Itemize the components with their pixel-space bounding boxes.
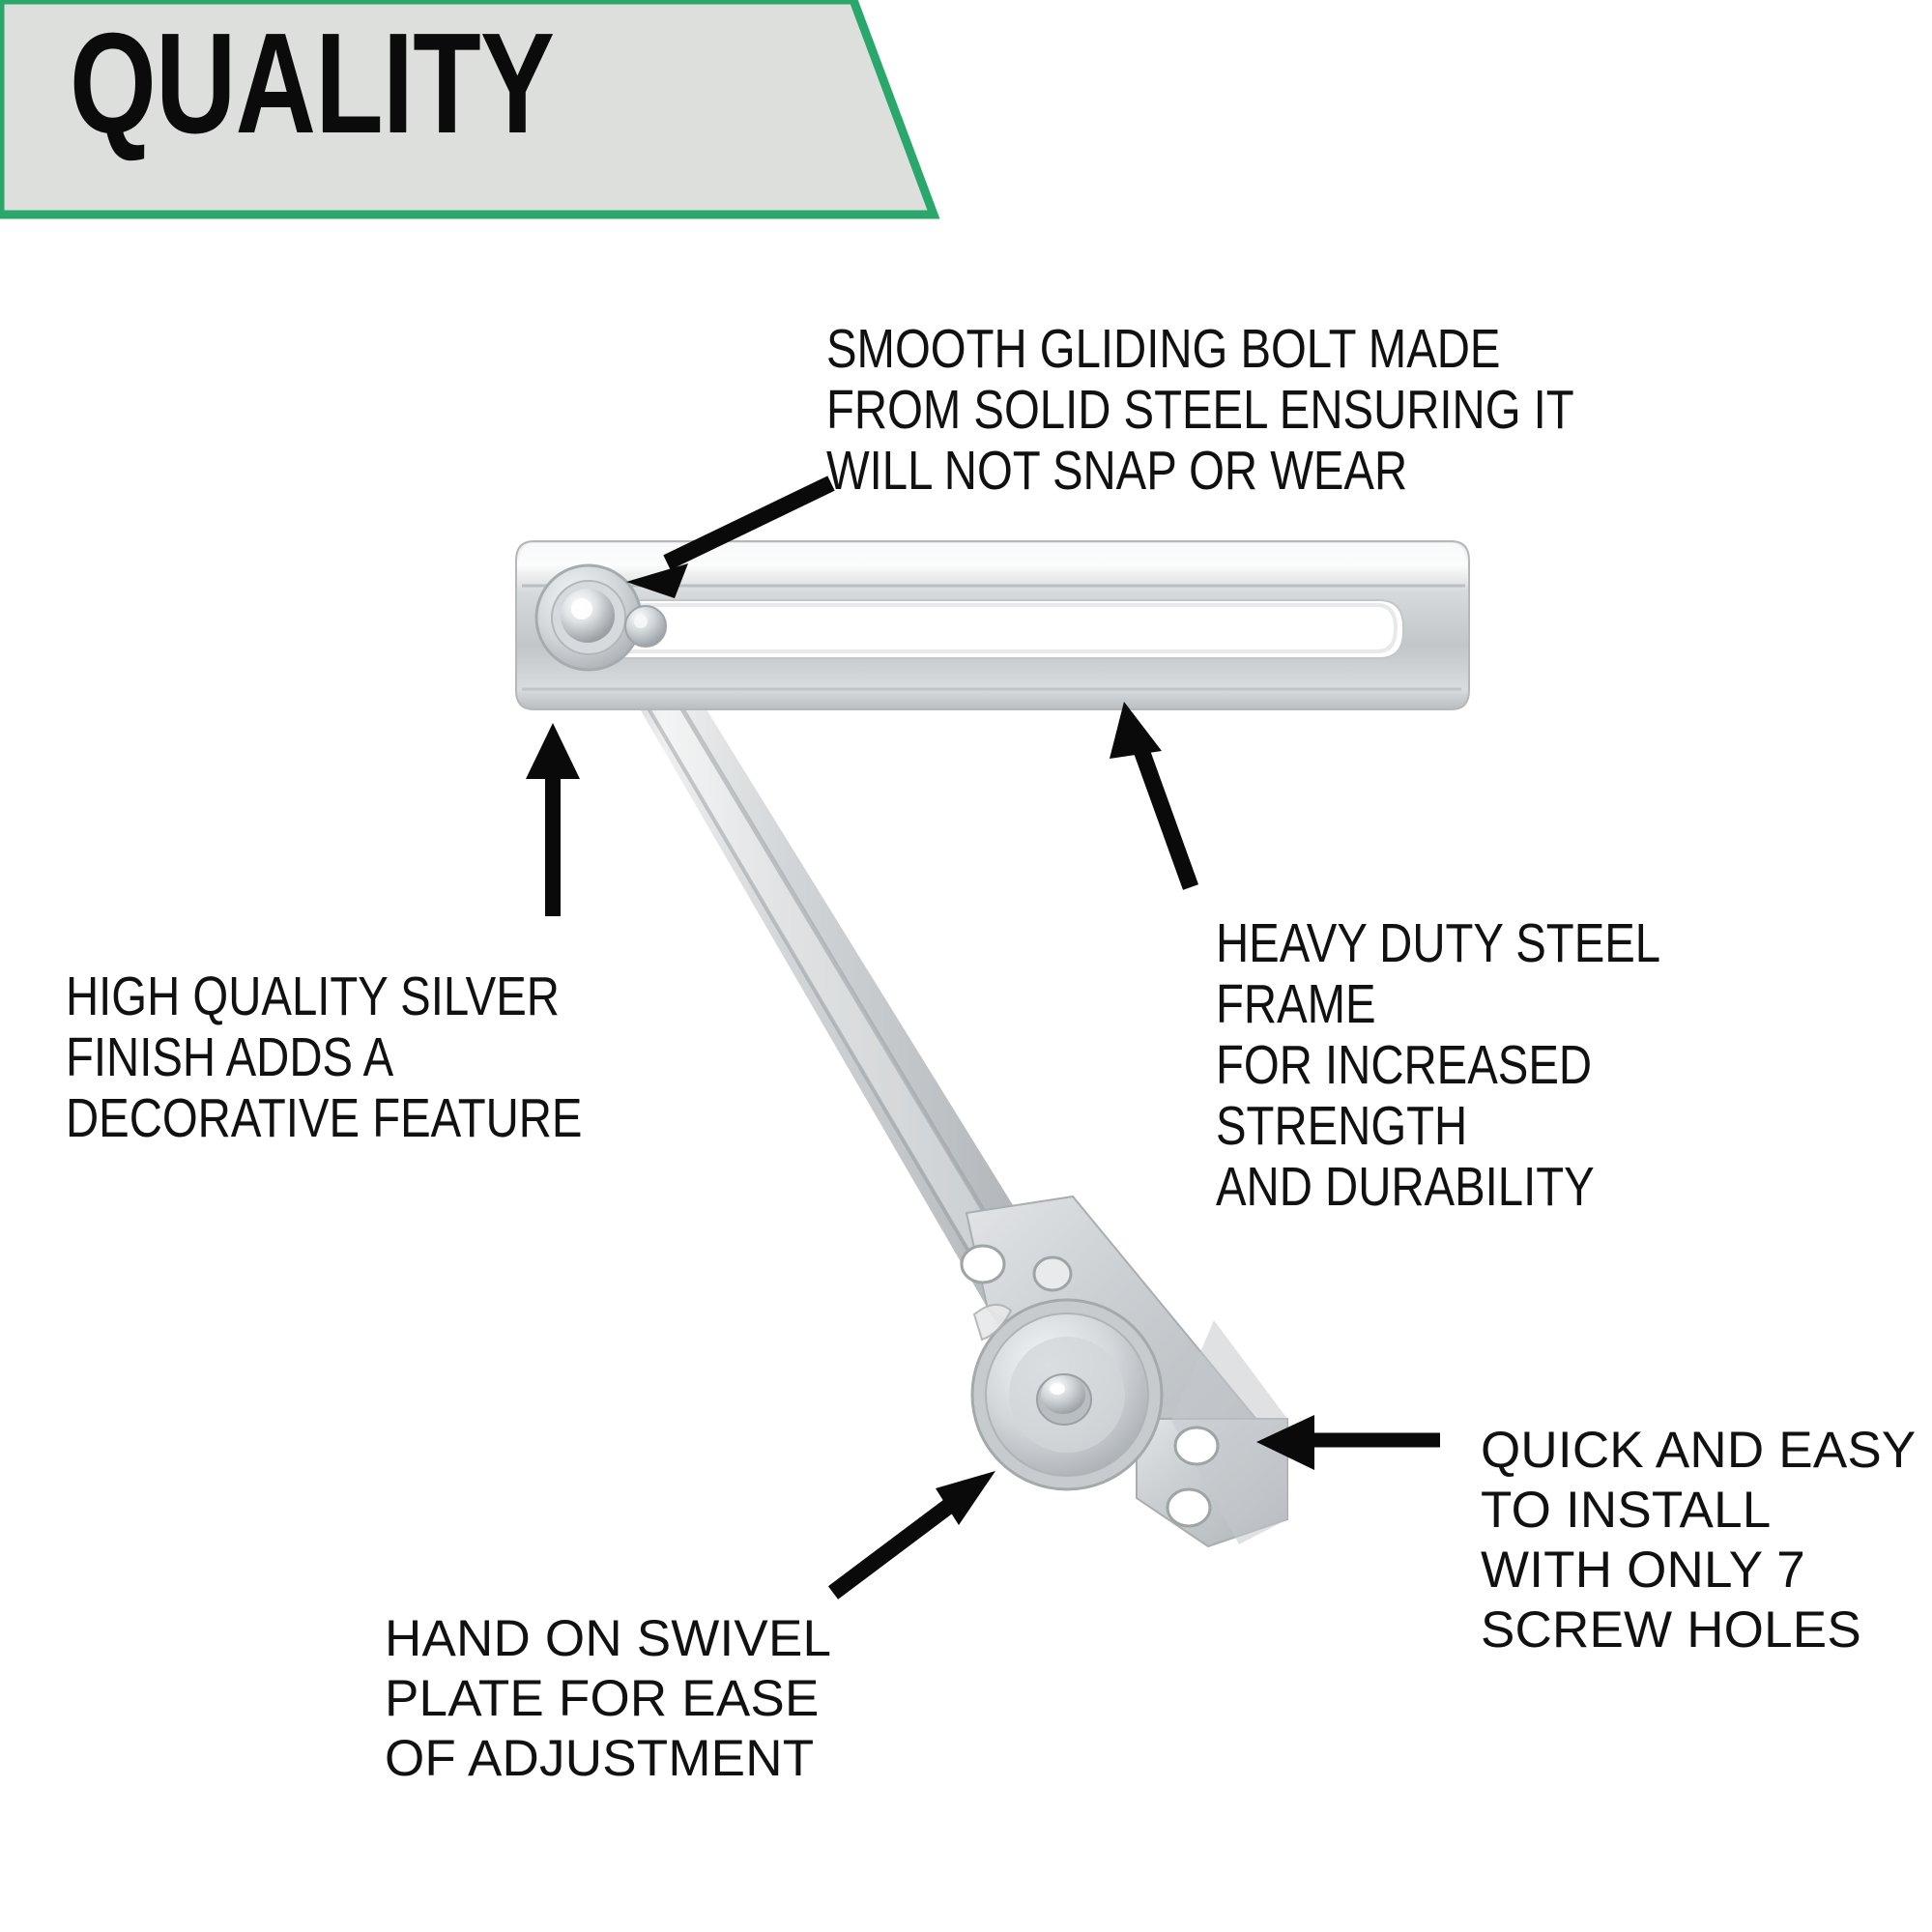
infographic-canvas: QUALITY [0, 0, 1932, 1932]
screw-hole [1034, 1257, 1071, 1290]
callout-text-bolt: SMOOTH GLIDING BOLT MADE FROM SOLID STEE… [826, 319, 1574, 502]
screw-hole [1168, 1489, 1210, 1526]
arrow-to-swivel-plate-icon [833, 1471, 995, 1593]
callout-text-frame: HEAVY DUTY STEEL FRAME FOR INCREASED STR… [1216, 913, 1810, 1218]
screw-hole [1175, 1427, 1218, 1464]
arrow-to-frame-icon [1110, 702, 1191, 887]
callout-text-swivel: HAND ON SWIVEL PLATE FOR EASE OF ADJUSTM… [385, 1609, 831, 1789]
arrow-to-arm-icon [526, 723, 580, 916]
callout-text-install: QUICK AND EASY TO INSTALL WITH ONLY 7 SC… [1481, 1421, 1916, 1660]
screw-hole [962, 1246, 1004, 1283]
callout-text-finish: HIGH QUALITY SILVER FINISH ADDS A DECORA… [66, 966, 582, 1149]
product-swivel-plate [962, 1197, 1287, 1546]
